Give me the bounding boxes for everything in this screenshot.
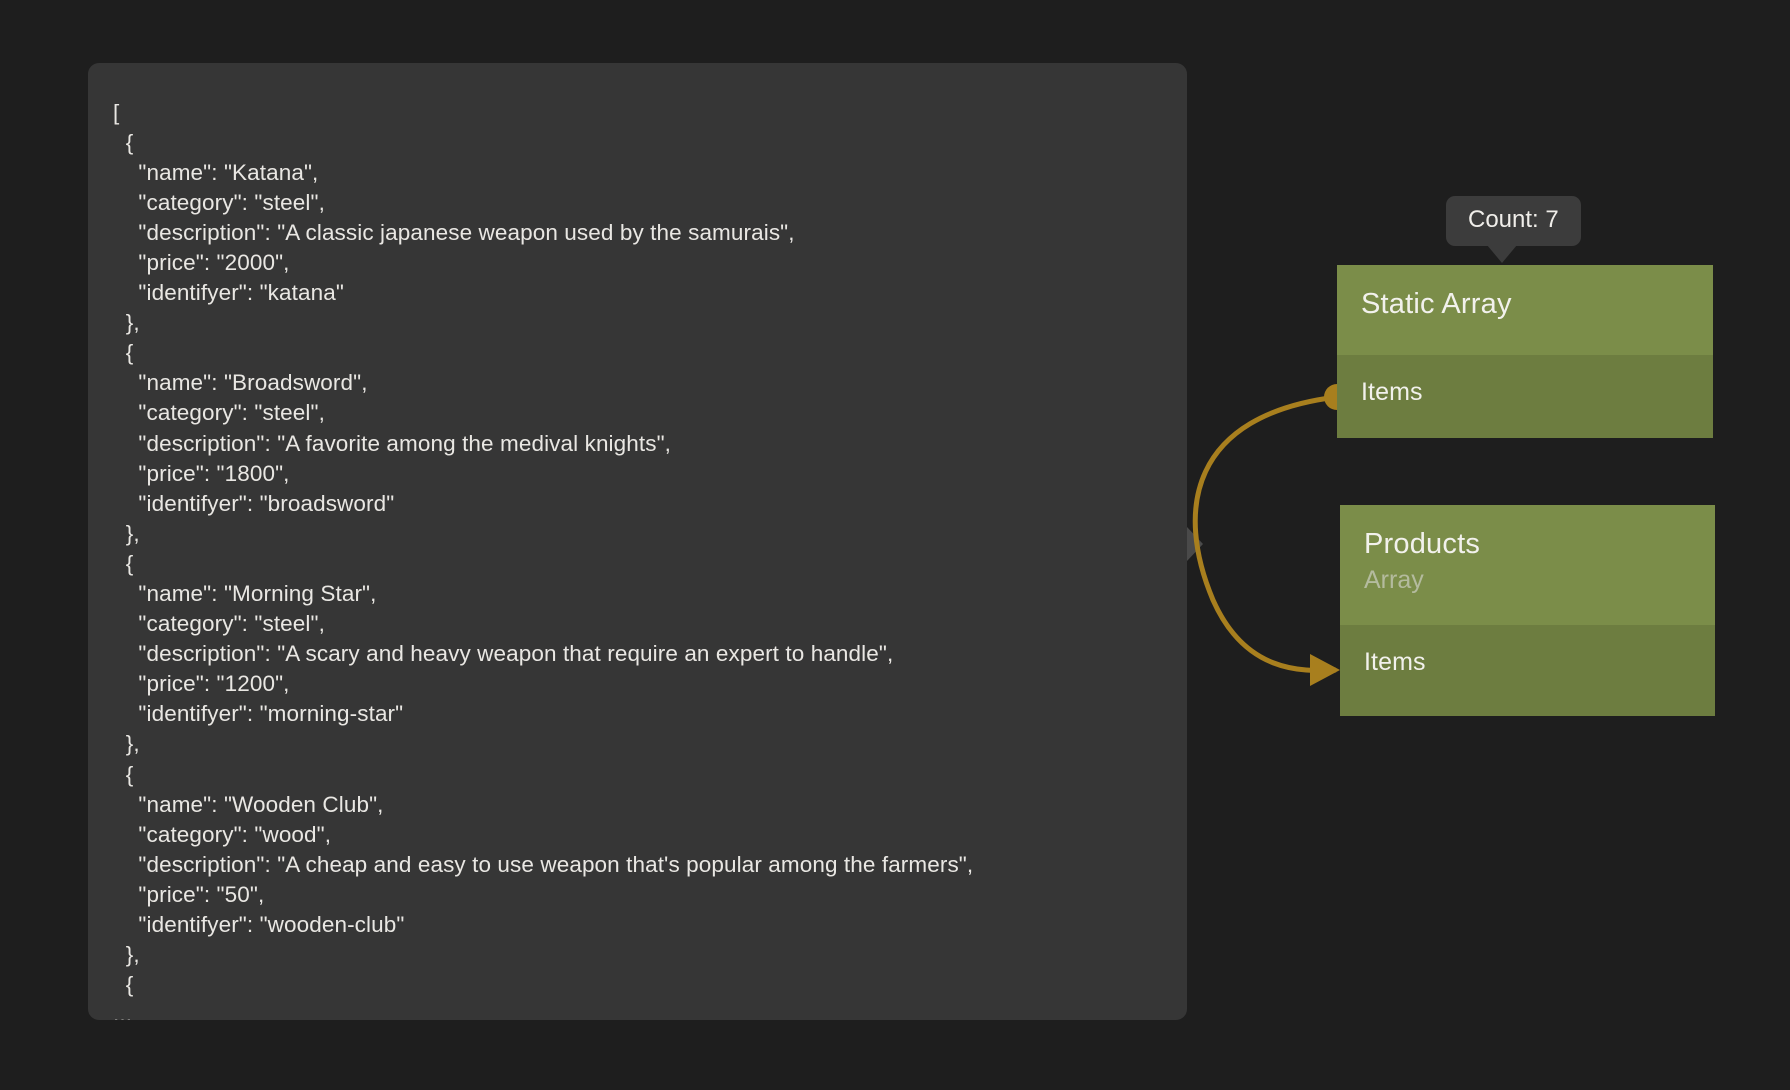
node-body-static-array: Items [1337, 355, 1713, 438]
json-code-text: [ { "name": "Katana", "category": "steel… [113, 98, 1181, 1021]
panel-output-port-triangle-icon[interactable] [1187, 527, 1203, 561]
node-row-products-items[interactable]: Items [1340, 625, 1715, 677]
connector-edge-path[interactable] [1195, 397, 1337, 671]
node-card-static-array[interactable]: Static Array Items [1337, 265, 1713, 438]
count-tooltip-arrow-icon [1487, 245, 1517, 263]
node-row-static-array-items[interactable]: Items [1337, 355, 1713, 407]
count-tooltip: Count: 7 [1446, 196, 1581, 246]
json-code-panel[interactable]: [ { "name": "Katana", "category": "steel… [88, 63, 1187, 1020]
node-title-static-array: Static Array [1361, 287, 1689, 321]
node-header-products[interactable]: Products Array [1340, 505, 1715, 625]
connector-target-arrow-icon[interactable] [1310, 654, 1340, 686]
node-title-products: Products [1364, 527, 1691, 561]
node-subtitle-products: Array [1364, 564, 1691, 596]
node-card-products[interactable]: Products Array Items [1340, 505, 1715, 716]
count-tooltip-label: Count: 7 [1468, 206, 1559, 233]
node-body-products: Items [1340, 625, 1715, 716]
node-header-static-array[interactable]: Static Array [1337, 265, 1713, 355]
